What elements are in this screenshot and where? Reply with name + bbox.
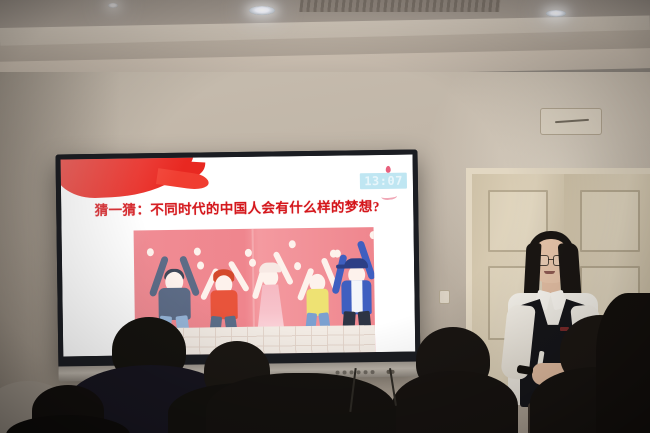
presenter-mouth <box>544 271 555 274</box>
downlight-center-icon <box>249 6 275 15</box>
audience-bottom-center-silhouette <box>206 373 396 433</box>
figure-blue-jacket-man <box>330 229 376 338</box>
downlight-right-icon <box>546 10 566 17</box>
audience-woman-bob-right <box>388 325 516 433</box>
wall-socket <box>439 290 450 304</box>
wall-mounted-panel <box>540 108 602 135</box>
audience-right-edge-silhouette <box>596 293 650 433</box>
figure-pink-dress-woman <box>246 234 297 339</box>
photo-scene: 13:07 猜一猜：不同时代的中国人会有什么样的梦想? <box>0 0 650 433</box>
audience-front-row-silhouette <box>6 379 126 433</box>
slide-clock: 13:07 <box>360 173 407 190</box>
ceiling-vent <box>299 0 500 12</box>
downlight-far-left-icon <box>108 3 118 8</box>
slide-title: 猜一猜：不同时代的中国人会有什么样的梦想? <box>61 195 413 220</box>
